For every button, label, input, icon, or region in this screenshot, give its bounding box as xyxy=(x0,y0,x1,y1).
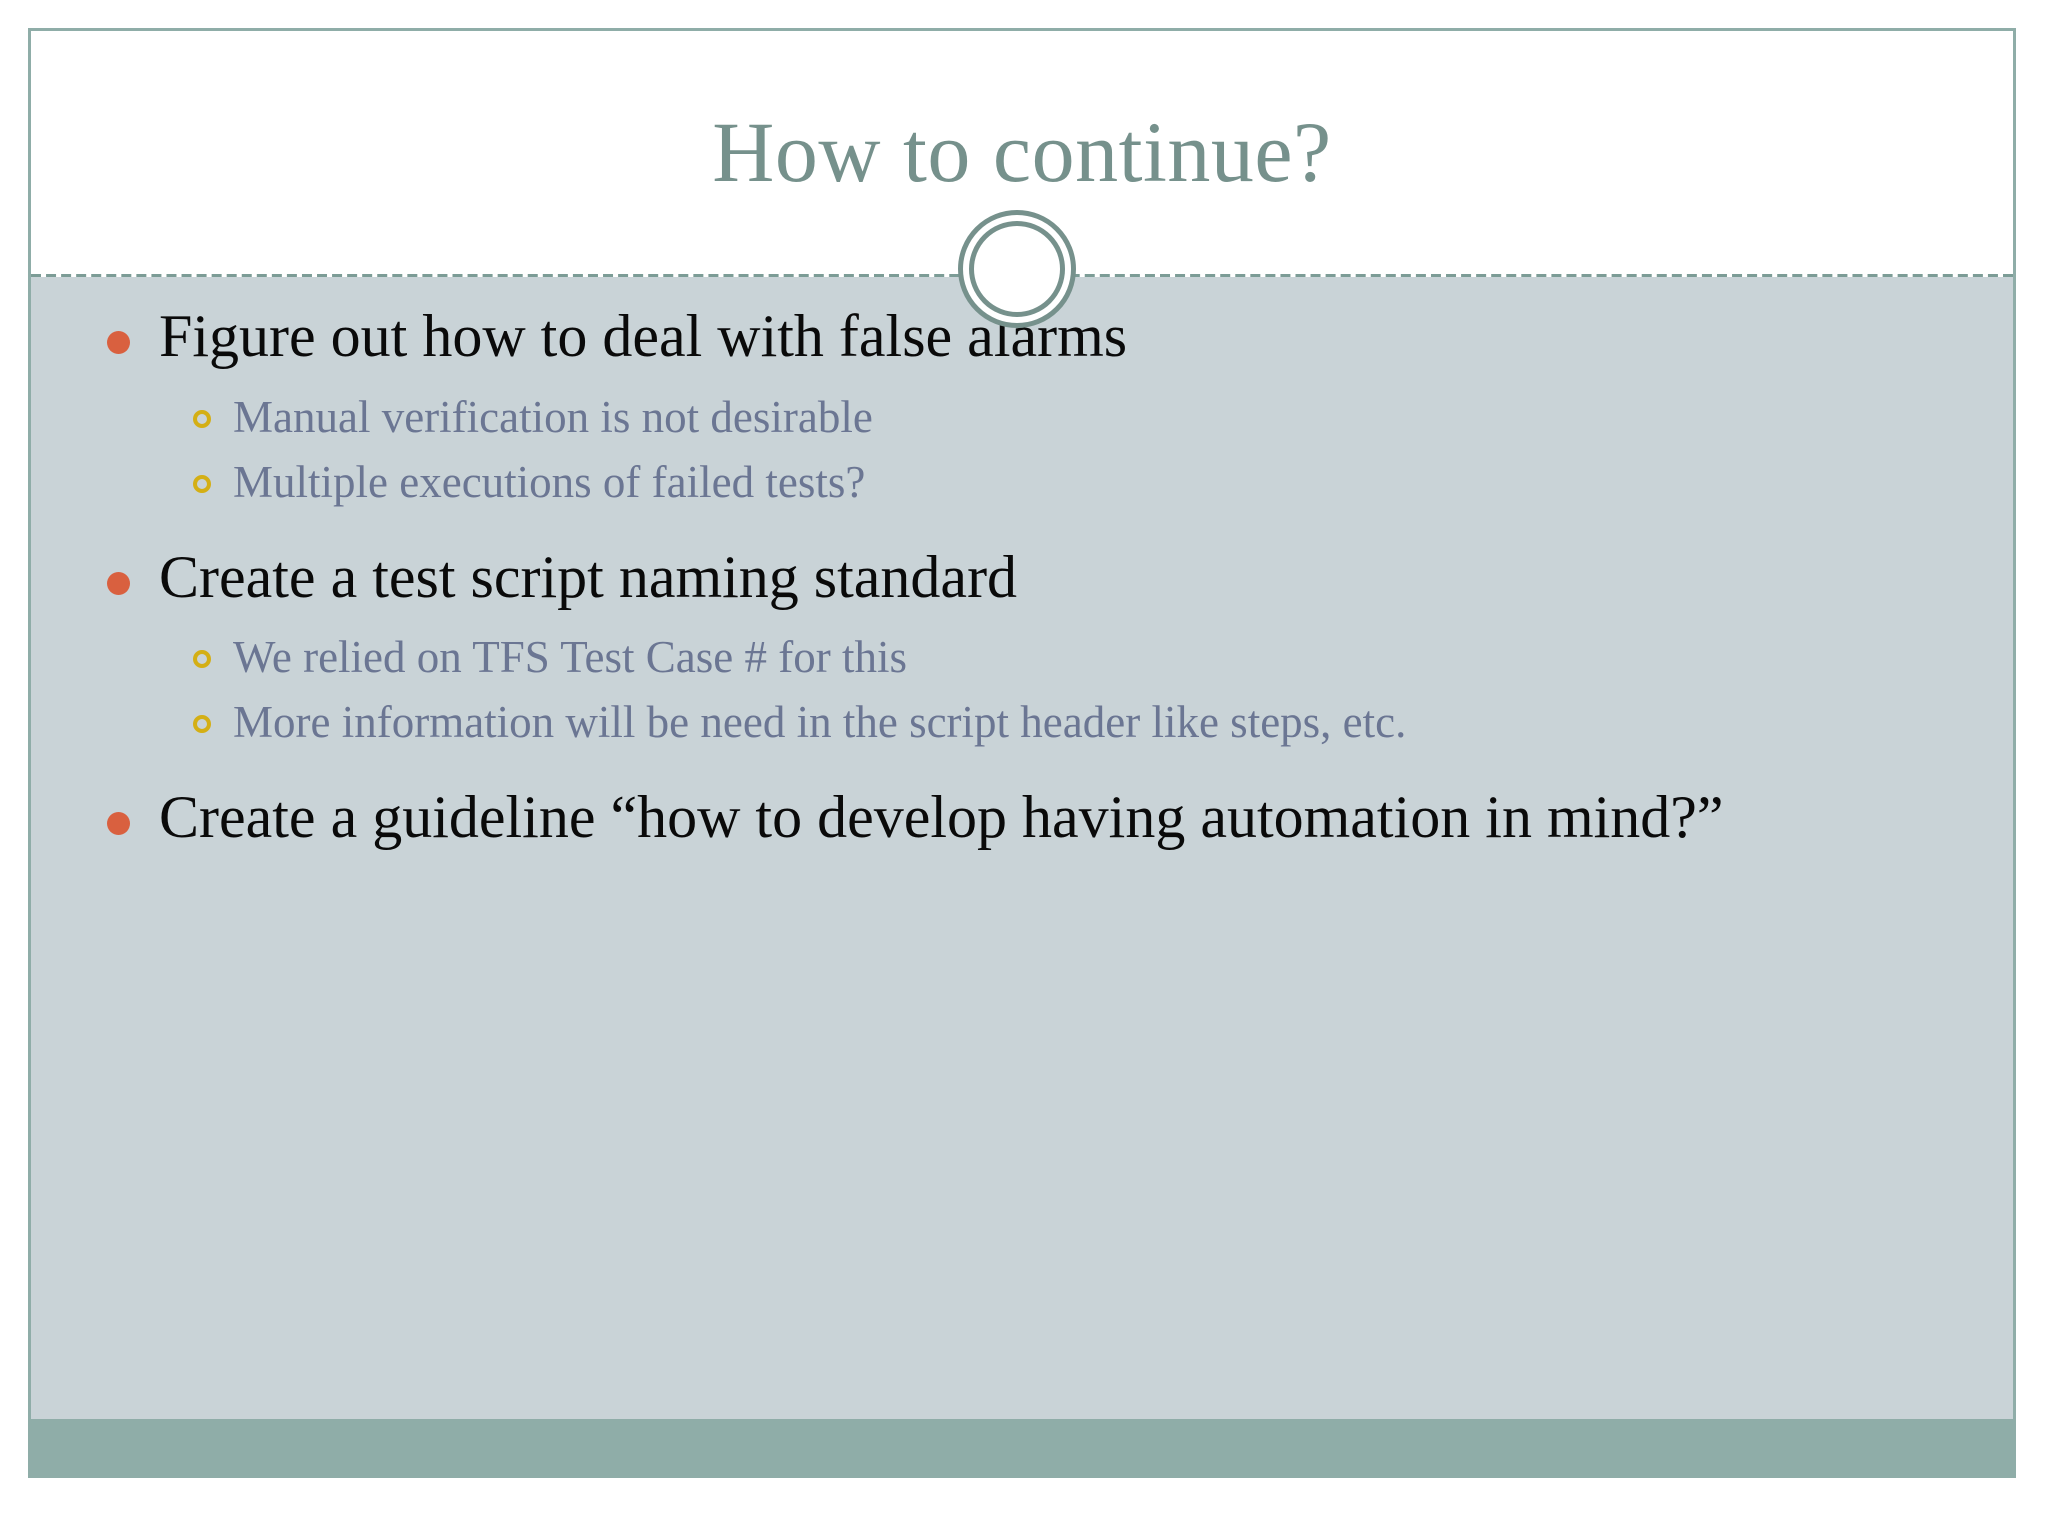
ring-inner-circle xyxy=(969,221,1065,317)
bottom-accent-bar xyxy=(31,1419,2013,1475)
bullet-dot-icon xyxy=(107,812,130,835)
bullet-list: Figure out how to deal with false alarms… xyxy=(71,301,1953,859)
bullet-text: Create a test script naming standard xyxy=(159,544,1017,610)
bullet-text: We relied on TFS Test Case # for this xyxy=(233,632,907,682)
bullet-circle-icon xyxy=(193,475,211,493)
page-title: How to continue? xyxy=(31,109,2013,195)
bullet-level1: Create a guideline “how to develop havin… xyxy=(71,782,1953,853)
bullet-level1: Create a test script naming standard xyxy=(71,542,1953,613)
bullet-circle-icon xyxy=(193,715,211,733)
bullet-circle-icon xyxy=(193,410,211,428)
bullet-level2: We relied on TFS Test Case # for this xyxy=(71,630,1953,685)
bullet-level2: More information will be need in the scr… xyxy=(71,695,1953,750)
bullet-level2: Multiple executions of failed tests? xyxy=(71,455,1953,510)
spacer xyxy=(71,760,1953,782)
bullet-level2: Manual verification is not desirable xyxy=(71,390,1953,445)
bullet-text: Create a guideline “how to develop havin… xyxy=(159,784,1724,850)
bullet-circle-icon xyxy=(193,650,211,668)
bullet-text: Multiple executions of failed tests? xyxy=(233,457,865,507)
bullet-text: More information will be need in the scr… xyxy=(233,697,1406,747)
slide: How to continue? Figure out how to deal … xyxy=(28,28,2016,1478)
spacer xyxy=(71,378,1953,390)
body-panel: Figure out how to deal with false alarms… xyxy=(31,277,2013,1419)
bullet-text: Manual verification is not desirable xyxy=(233,392,873,442)
spacer xyxy=(71,520,1953,542)
ring-ornament-icon xyxy=(958,210,1086,338)
bullet-dot-icon xyxy=(107,572,130,595)
spacer xyxy=(71,618,1953,630)
bullet-dot-icon xyxy=(107,331,130,354)
